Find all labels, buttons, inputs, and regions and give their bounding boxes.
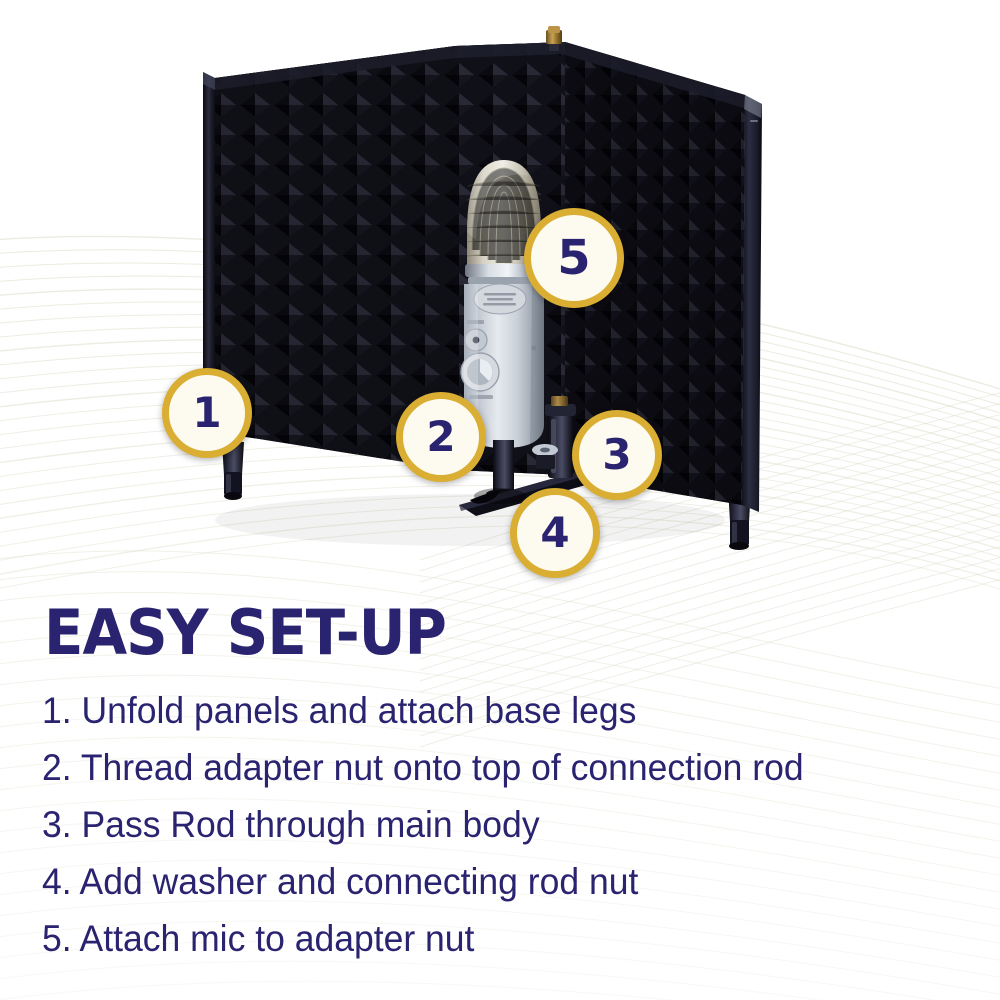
page-title: EASY SET-UP (44, 596, 446, 669)
setup-steps-list: 1. Unfold panels and attach base legs 2.… (42, 682, 992, 967)
callout-badge-1[interactable]: 1 (162, 368, 252, 458)
product-photo: 1 2 3 4 5 (0, 0, 1000, 600)
callout-badge-3[interactable]: 3 (572, 410, 662, 500)
callout-label-3: 3 (602, 434, 631, 476)
callout-label-2: 2 (426, 416, 455, 458)
callout-label-5: 5 (557, 234, 590, 282)
setup-step: 5. Attach mic to adapter nut (42, 910, 954, 967)
setup-step: 3. Pass Rod through main body (42, 796, 954, 853)
callout-label-1: 1 (192, 392, 221, 434)
panel-edge-right (742, 95, 762, 512)
ground-shadow (215, 494, 725, 546)
reflection-filter-illustration (0, 0, 1000, 600)
callout-badge-4[interactable]: 4 (510, 488, 600, 578)
setup-step: 1. Unfold panels and attach base legs (42, 682, 954, 739)
callout-badge-2[interactable]: 2 (396, 392, 486, 482)
stand-shaft (493, 440, 514, 494)
setup-step: 4. Add washer and connecting rod nut (42, 853, 954, 910)
callout-label-4: 4 (540, 512, 569, 554)
setup-step: 2. Thread adapter nut onto top of connec… (42, 739, 954, 796)
callout-badge-5[interactable]: 5 (524, 208, 624, 308)
infographic-page: 1 2 3 4 5 EASY SET-UP 1. Unfold panels a… (0, 0, 1000, 1000)
microphone (461, 160, 544, 448)
